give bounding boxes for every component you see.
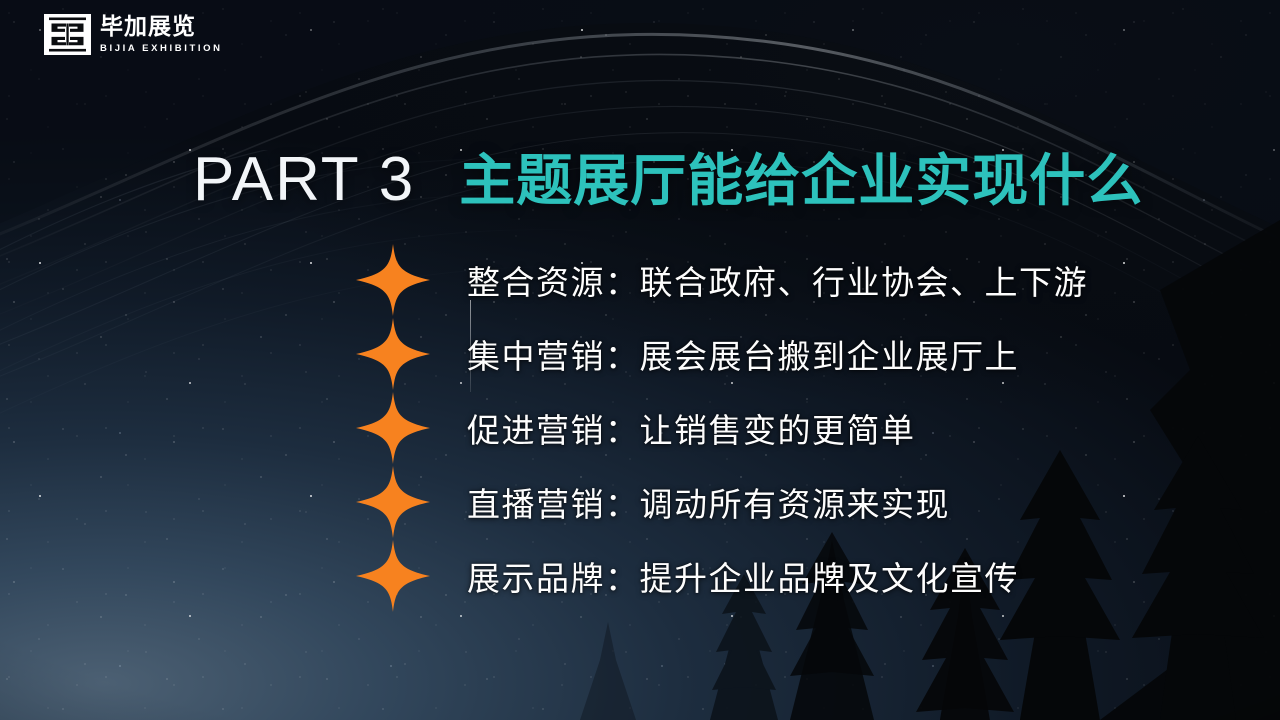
logo-name-en: BIJIA EXHIBITION: [100, 44, 223, 54]
logo-name-cn: 毕加展览: [100, 16, 223, 39]
list-item[interactable]: 整合资源：联合政府、行业协会、上下游: [355, 243, 1195, 317]
title-text: 主题展厅能给企业实现什么: [459, 136, 1143, 217]
page-title: PART 3 主题展厅能给企业实现什么: [193, 136, 1143, 217]
four-point-star-icon: [355, 243, 431, 317]
list-item[interactable]: 直播营销：调动所有资源来实现: [355, 465, 1195, 539]
list-item-label: 促进营销：让销售变的更简单: [467, 391, 916, 465]
bijia-be-monogram-icon: [44, 14, 91, 55]
brand-logo[interactable]: 毕加展览 BIJIA EXHIBITION: [44, 14, 223, 55]
four-point-star-icon: [355, 539, 431, 613]
presentation-slide: 毕加展览 BIJIA EXHIBITION PART 3 主题展厅能给企业实现什…: [0, 0, 1280, 720]
list-item-label: 展示品牌：提升企业品牌及文化宣传: [467, 539, 1019, 613]
list-item[interactable]: 展示品牌：提升企业品牌及文化宣传: [355, 539, 1195, 613]
list-item[interactable]: 促进营销：让销售变的更简单: [355, 391, 1195, 465]
list-item[interactable]: 集中营销：展会展台搬到企业展厅上: [355, 317, 1195, 391]
four-point-star-icon: [355, 465, 431, 539]
list-item-label: 直播营销：调动所有资源来实现: [467, 465, 950, 539]
four-point-star-icon: [355, 391, 431, 465]
bullet-list: 整合资源：联合政府、行业协会、上下游 集中营销：展会展台搬到企业展厅上 促进营销…: [355, 243, 1195, 613]
part-label: PART 3: [193, 144, 415, 215]
four-point-star-icon: [355, 317, 431, 391]
list-item-label: 整合资源：联合政府、行业协会、上下游: [467, 243, 1088, 317]
list-item-label: 集中营销：展会展台搬到企业展厅上: [467, 317, 1019, 391]
